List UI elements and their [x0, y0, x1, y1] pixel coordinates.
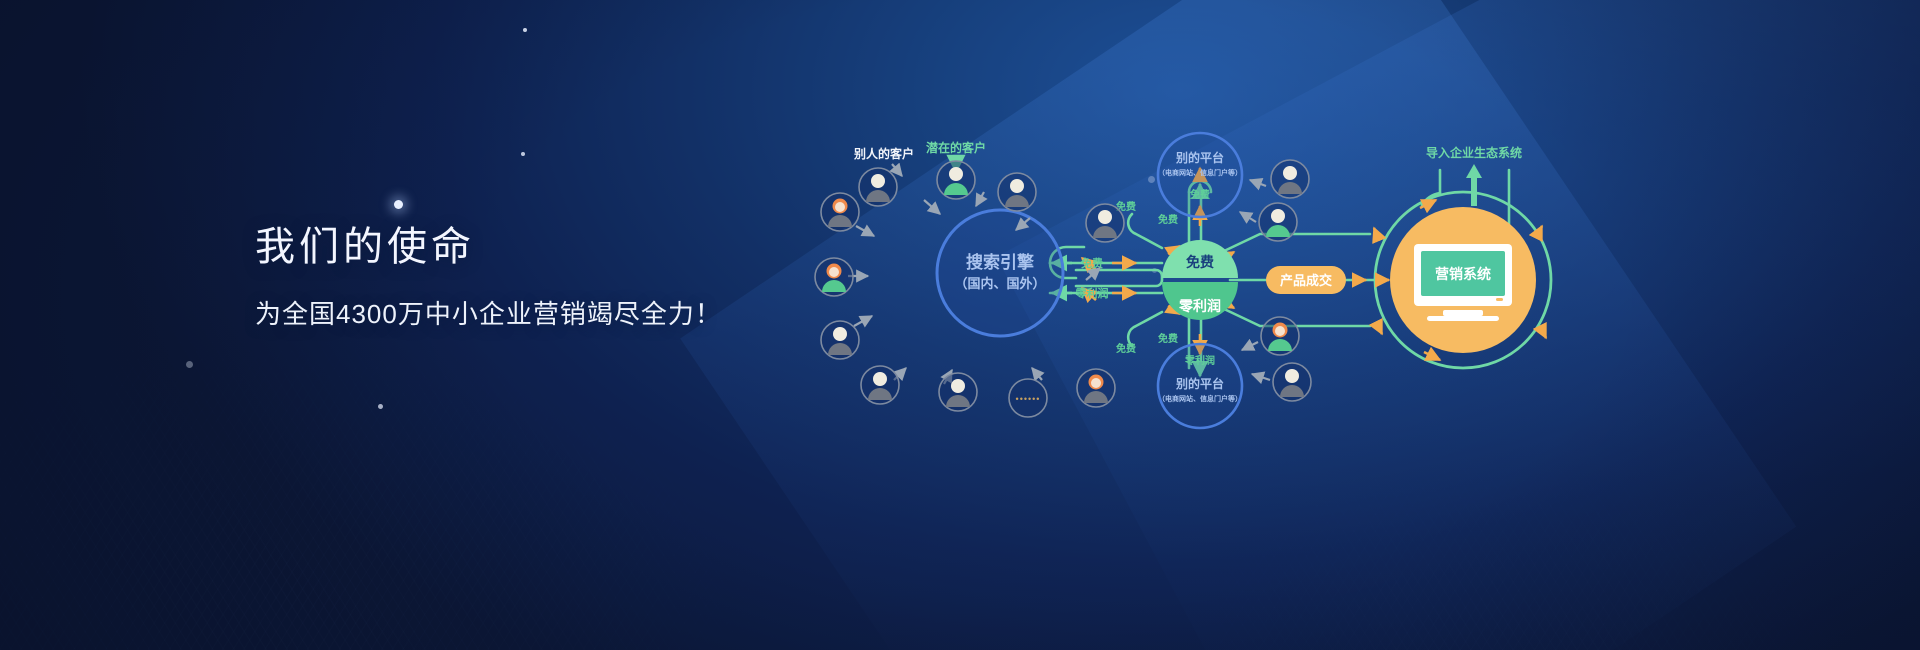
search-engine-subtitle: （国内、国外） [954, 276, 1045, 291]
marketing-system-node: 营销系统 [1390, 207, 1536, 353]
flow-label-free-link-top: 免费 [1158, 213, 1178, 226]
marketing-system-label: 营销系统 [1435, 266, 1491, 282]
hub-bottom-label: 零利润 [1178, 298, 1221, 314]
search-engine-title: 搜索引擎 [966, 252, 1035, 272]
hero-banner: 我们的使命 为全国4300万中小企业营销竭尽全力！ [0, 0, 1920, 650]
platform-bottom-badge: 零利润 [1184, 354, 1215, 367]
deal-pill-label: 产品成交 [1280, 273, 1332, 288]
label-potential-customers: 潜在的客户 [926, 140, 986, 155]
flow-label-free-branch-bottom: 免费 [1116, 342, 1136, 355]
label-import-ecosystem: 导入企业生态系统 [1426, 145, 1522, 160]
flow-label-zero-profit-lower: 零利润 [1075, 286, 1109, 300]
platform-bottom-subtitle: （电商网站、信息门户等） [1158, 394, 1242, 403]
search-engine-node [937, 210, 1063, 336]
hero-copy: 我们的使命 为全国4300万中小企业营销竭尽全力！ [255, 222, 875, 332]
platform-top-title: 别的平台 [1175, 150, 1224, 165]
platform-top-badge: 免费 [1190, 188, 1210, 201]
hub-top-label: 免费 [1186, 254, 1214, 270]
ellipsis-node-label: •••••• [1016, 394, 1041, 404]
platform-bottom-title: 别的平台 [1175, 376, 1224, 391]
hub-node: 免费 零利润 [1162, 240, 1238, 320]
ecosystem-diagram: 搜索引擎 （国内、国外） 免费 零利润 免费 免费 免费 免费 别的平台 （电商… [900, 130, 1620, 430]
flow-label-free-link-bottom: 免费 [1158, 332, 1178, 345]
hero-subtitle: 为全国4300万中小企业营销竭尽全力！ [255, 298, 875, 332]
platform-top-subtitle: （电商网站、信息门户等） [1158, 168, 1242, 177]
page-title: 我们的使命 [255, 222, 875, 272]
label-others-customers: 别人的客户 [853, 146, 914, 161]
deal-pill: 产品成交 [1266, 266, 1346, 294]
